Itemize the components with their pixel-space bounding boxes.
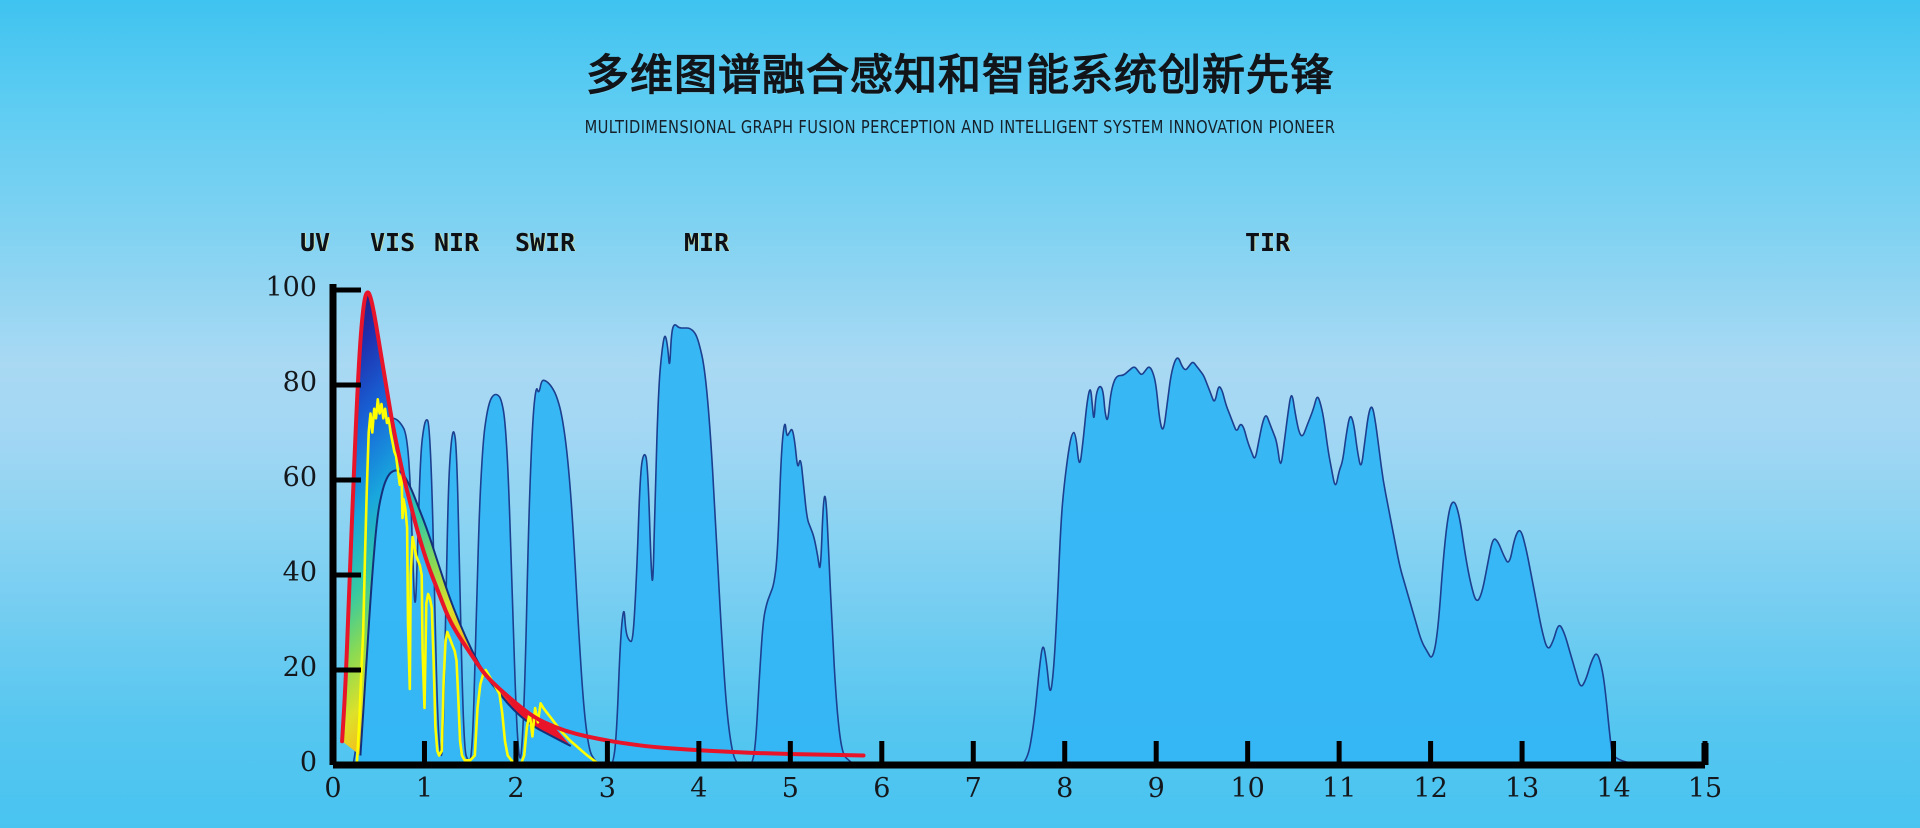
poster-canvas: 多维图谱融合感知和智能系统创新先锋 MULTIDIMENSIONAL GRAPH… xyxy=(0,0,1920,828)
y-tick-label: 100 xyxy=(247,272,317,303)
x-tick-label: 7 xyxy=(949,773,997,804)
x-tick-label: 12 xyxy=(1407,773,1455,804)
y-tick-label: 80 xyxy=(247,367,317,398)
x-tick-label: 13 xyxy=(1498,773,1546,804)
x-tick-label: 4 xyxy=(675,773,723,804)
y-tick-label: 60 xyxy=(247,462,317,493)
x-tick-label: 11 xyxy=(1315,773,1363,804)
chart-svg xyxy=(0,0,1920,828)
x-tick-label: 8 xyxy=(1041,773,1089,804)
x-tick-label: 0 xyxy=(309,773,357,804)
y-tick-label: 40 xyxy=(247,557,317,588)
y-tick-label: 20 xyxy=(247,652,317,683)
x-tick-label: 10 xyxy=(1224,773,1272,804)
x-tick-label: 5 xyxy=(766,773,814,804)
y-tick-label: 0 xyxy=(247,747,317,778)
x-tick-label: 3 xyxy=(583,773,631,804)
x-tick-label: 2 xyxy=(492,773,540,804)
x-tick-label: 14 xyxy=(1590,773,1638,804)
x-tick-label: 6 xyxy=(858,773,906,804)
transmission-area xyxy=(353,325,1705,765)
x-tick-label: 15 xyxy=(1681,773,1729,804)
x-tick-label: 9 xyxy=(1132,773,1180,804)
x-tick-label: 1 xyxy=(400,773,448,804)
spectrum-chart: 100806040200 0123456789101112131415 xyxy=(0,0,1920,828)
